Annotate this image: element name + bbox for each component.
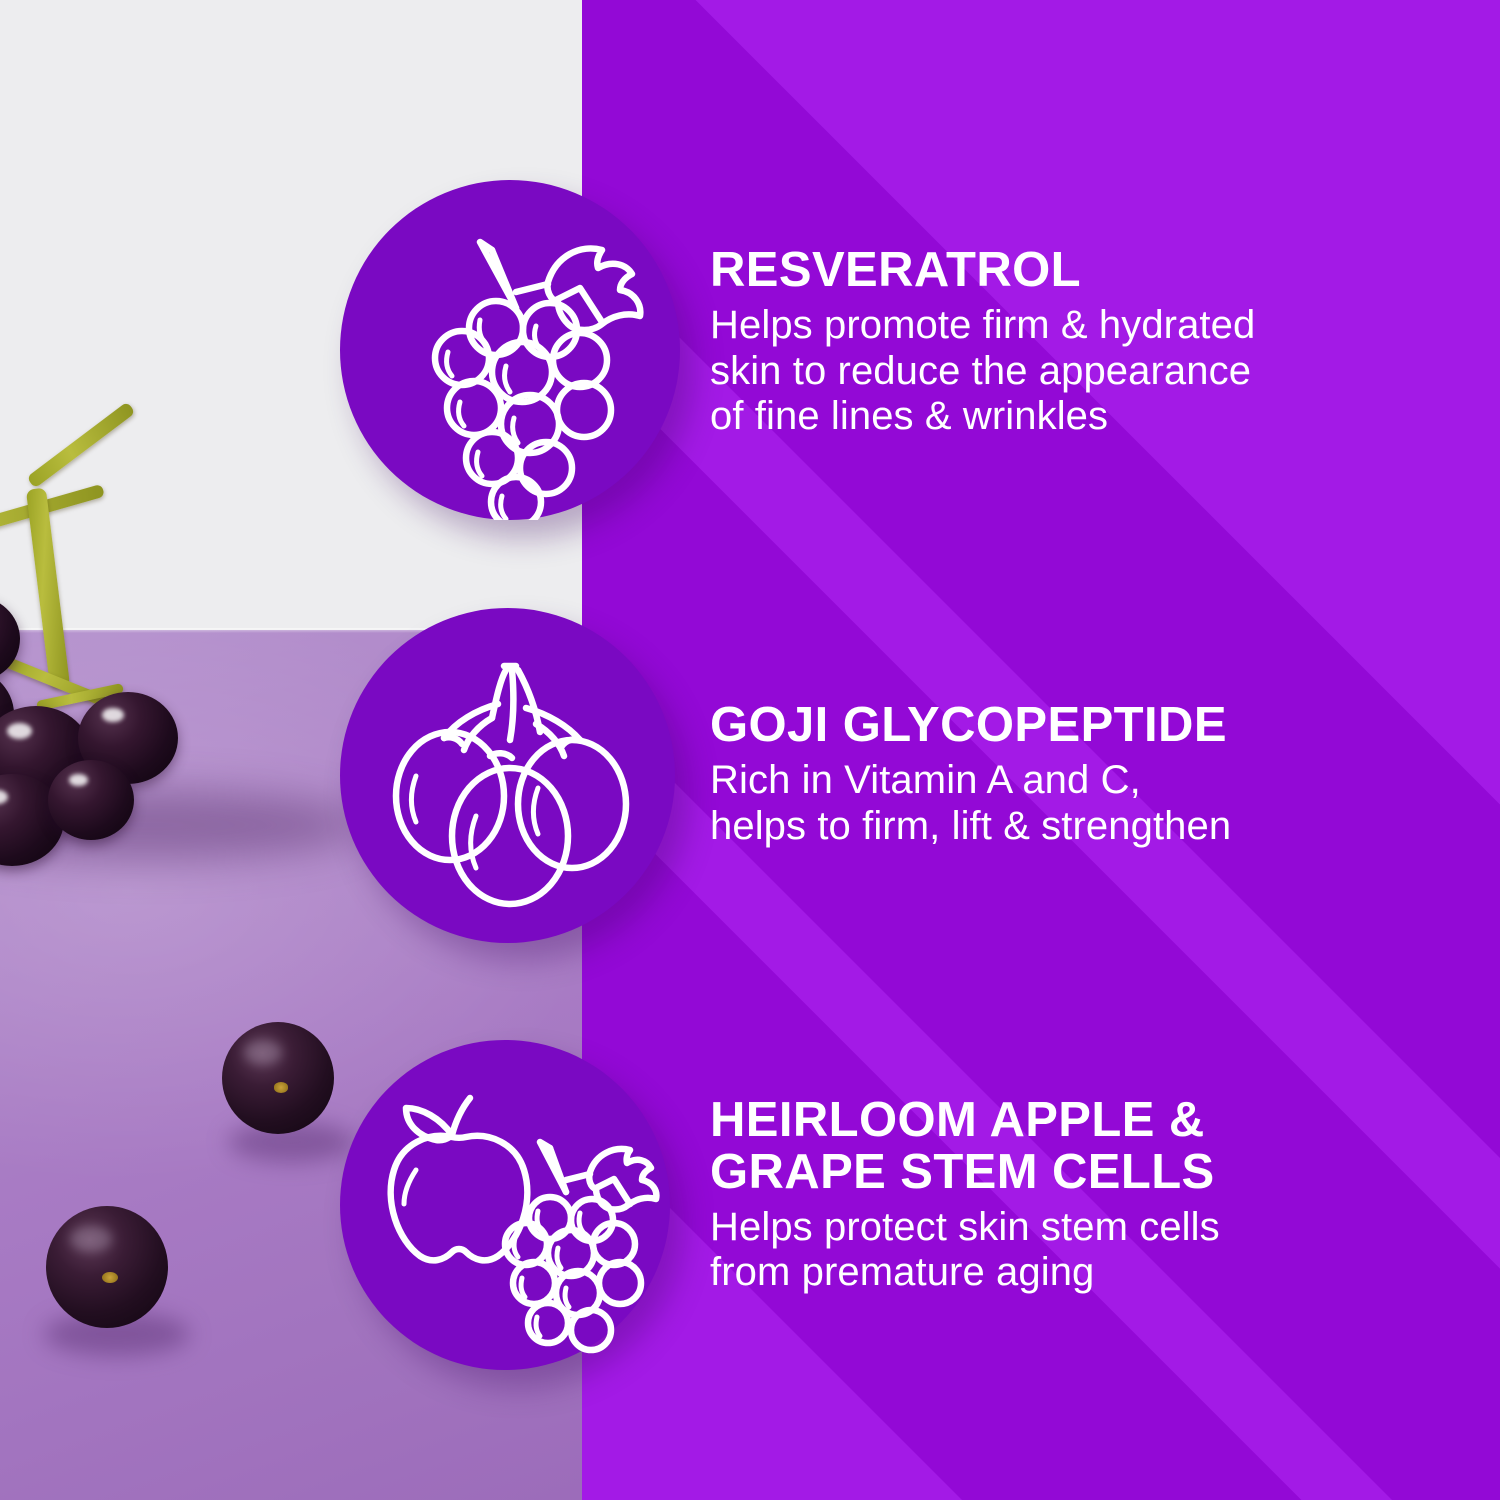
- badge-goji-glycopeptide: [340, 608, 675, 943]
- title-line: HEIRLOOM APPLE &: [710, 1095, 1410, 1147]
- ingredient-block-resveratrol: RESVERATROL Helps promote firm & hydrate…: [710, 245, 1410, 440]
- description-line: of fine lines & wrinkles: [710, 394, 1410, 440]
- ingredient-title: RESVERATROL: [710, 245, 1410, 297]
- loose-grape-2: [222, 1022, 334, 1134]
- goji-berries-icon: [340, 608, 675, 943]
- ingredient-description: Helps promote firm & hydrated skin to re…: [710, 303, 1410, 440]
- apple-and-grape-icon: [340, 1040, 670, 1370]
- ingredient-title: HEIRLOOM APPLE & GRAPE STEM CELLS: [710, 1095, 1410, 1199]
- description-line: Helps protect skin stem cells: [710, 1205, 1410, 1251]
- description-line: from premature aging: [710, 1250, 1410, 1296]
- grape-cluster-icon: [340, 180, 680, 520]
- ingredient-description: Helps protect skin stem cells from prema…: [710, 1205, 1410, 1296]
- description-line: Helps promote firm & hydrated: [710, 303, 1410, 349]
- ingredient-block-goji-glycopeptide: GOJI GLYCOPEPTIDE Rich in Vitamin A and …: [710, 700, 1410, 849]
- ingredient-title: GOJI GLYCOPEPTIDE: [710, 700, 1410, 752]
- description-line: skin to reduce the appearance: [710, 349, 1410, 395]
- infographic-root: RESVERATROL Helps promote firm & hydrate…: [0, 0, 1500, 1500]
- ingredient-block-apple-grape-stem-cells: HEIRLOOM APPLE & GRAPE STEM CELLS Helps …: [710, 1095, 1410, 1296]
- description-line: helps to firm, lift & strengthen: [710, 804, 1410, 850]
- badge-apple-grape-stem-cells: [340, 1040, 670, 1370]
- ingredient-description: Rich in Vitamin A and C, helps to firm, …: [710, 758, 1410, 849]
- title-line: GRAPE STEM CELLS: [710, 1147, 1410, 1199]
- badge-resveratrol: [340, 180, 680, 520]
- description-line: Rich in Vitamin A and C,: [710, 758, 1410, 804]
- grape-cluster-photo: [0, 430, 380, 860]
- loose-grape-1: [46, 1206, 168, 1328]
